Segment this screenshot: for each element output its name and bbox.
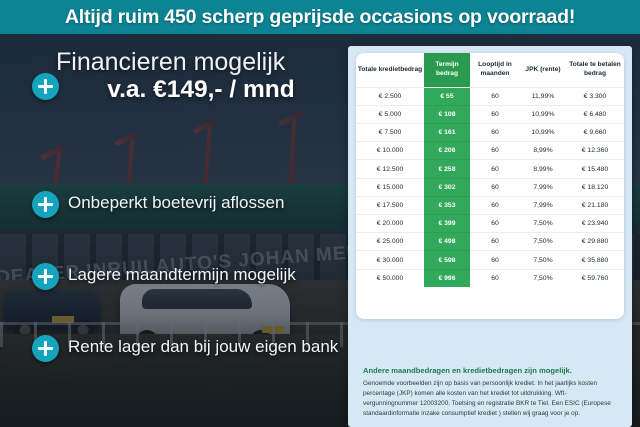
table-cell-r0-c0: € 2.500 — [356, 87, 424, 105]
table-cell-r2-c1: € 161 — [424, 124, 470, 142]
promo-banner-text: Altijd ruim 450 scherp geprijsde occasio… — [65, 6, 575, 29]
left-content: Financieren mogelijk v.a. €149,- / mnd O… — [0, 34, 348, 427]
table-cell-r6-c2: 60 — [470, 196, 520, 214]
table-cell-r2-c4: € 9.660 — [566, 124, 624, 142]
table-cell-r5-c0: € 15.000 — [356, 178, 424, 196]
plus-icon — [32, 191, 59, 218]
table-cell-r4-c0: € 12.500 — [356, 160, 424, 178]
plus-icon — [32, 73, 59, 100]
column-header-termijn-bedrag: Termijn bedrag — [424, 53, 470, 87]
table-cell-r8-c3: 7,50% — [520, 233, 566, 251]
table-cell-r7-c2: 60 — [470, 215, 520, 233]
column-header-totale-te-betalen: Totale te betalen bedrag — [566, 53, 624, 87]
table-cell-r9-c2: 60 — [470, 251, 520, 269]
table-row: € 30.000€ 598607,50%€ 35.880 — [356, 251, 624, 269]
table-cell-r8-c2: 60 — [470, 233, 520, 251]
financing-table-body: € 2.500€ 556011,99%€ 3.300€ 5.000€ 10860… — [356, 87, 624, 287]
table-cell-r3-c0: € 10.000 — [356, 142, 424, 160]
table-cell-r10-c1: € 996 — [424, 269, 470, 287]
table-cell-r10-c4: € 59.760 — [566, 269, 624, 287]
table-cell-r3-c1: € 206 — [424, 142, 470, 160]
table-cell-r9-c4: € 35.880 — [566, 251, 624, 269]
table-cell-r3-c3: 8,99% — [520, 142, 566, 160]
table-cell-r0-c1: € 55 — [424, 87, 470, 105]
table-cell-r5-c3: 7,99% — [520, 178, 566, 196]
table-cell-r3-c4: € 12.360 — [566, 142, 624, 160]
table-row: € 17.500€ 353607,99%€ 21.180 — [356, 196, 624, 214]
table-row: € 15.000€ 302607,99%€ 18.120 — [356, 178, 624, 196]
column-header-totale-kredietbedrag: Totale kredietbedrag — [356, 53, 424, 87]
column-header-jkp: JPK (rente) — [520, 53, 566, 87]
table-cell-r1-c4: € 6.480 — [566, 105, 624, 123]
bullet-item-1-label: Lagere maandtermijn mogelijk — [68, 265, 296, 285]
table-cell-r0-c4: € 3.300 — [566, 87, 624, 105]
plus-icon — [32, 335, 59, 362]
table-cell-r4-c1: € 258 — [424, 160, 470, 178]
table-cell-r2-c2: 60 — [470, 124, 520, 142]
table-row: € 50.000€ 996607,50%€ 59.760 — [356, 269, 624, 287]
table-cell-r1-c2: 60 — [470, 105, 520, 123]
table-cell-r4-c4: € 15.480 — [566, 160, 624, 178]
table-row: € 25.000€ 498607,50%€ 29.880 — [356, 233, 624, 251]
table-cell-r0-c2: 60 — [470, 87, 520, 105]
note-title: Andere maandbedragen en kredietbedragen … — [363, 366, 621, 376]
bullet-item-2-label: Rente lager dan bij jouw eigen bank — [68, 337, 338, 357]
table-cell-r10-c0: € 50.000 — [356, 269, 424, 287]
table-row: € 5.000€ 1086010,99%€ 6.480 — [356, 105, 624, 123]
table-cell-r4-c3: 8,99% — [520, 160, 566, 178]
table-row: € 20.000€ 399607,50%€ 23.940 — [356, 215, 624, 233]
table-cell-r2-c3: 10,99% — [520, 124, 566, 142]
table-cell-r0-c3: 11,99% — [520, 87, 566, 105]
financing-table-wrapper: Totale kredietbedrag Termijn bedrag Loop… — [356, 53, 624, 319]
table-cell-r1-c0: € 5.000 — [356, 105, 424, 123]
table-header-row: Totale kredietbedrag Termijn bedrag Loop… — [356, 53, 624, 87]
headline-line-1: Financieren mogelijk — [56, 48, 285, 76]
table-row: € 12.500€ 258608,99%€ 15.480 — [356, 160, 624, 178]
table-cell-r6-c4: € 21.180 — [566, 196, 624, 214]
table-cell-r10-c2: 60 — [470, 269, 520, 287]
table-cell-r9-c0: € 30.000 — [356, 251, 424, 269]
table-cell-r1-c1: € 108 — [424, 105, 470, 123]
table-cell-r6-c1: € 353 — [424, 196, 470, 214]
top-promo-banner: Altijd ruim 450 scherp geprijsde occasio… — [0, 0, 640, 34]
table-row: € 10.000€ 206608,99%€ 12.360 — [356, 142, 624, 160]
table-cell-r2-c0: € 7.500 — [356, 124, 424, 142]
table-cell-r7-c1: € 399 — [424, 215, 470, 233]
table-cell-r3-c2: 60 — [470, 142, 520, 160]
table-cell-r7-c4: € 23.940 — [566, 215, 624, 233]
table-cell-r9-c3: 7,50% — [520, 251, 566, 269]
plus-icon — [32, 263, 59, 290]
table-cell-r8-c1: € 498 — [424, 233, 470, 251]
table-row: € 7.500€ 1616010,99%€ 9.660 — [356, 124, 624, 142]
note-body: Genoemde voorbeelden zijn op basis van p… — [363, 379, 619, 419]
table-cell-r7-c0: € 20.000 — [356, 215, 424, 233]
table-row: € 2.500€ 556011,99%€ 3.300 — [356, 87, 624, 105]
table-cell-r6-c3: 7,99% — [520, 196, 566, 214]
page-title: Financieren mogelijk v.a. €149,- / mnd — [56, 48, 346, 103]
headline-line-2: v.a. €149,- / mnd — [56, 76, 346, 103]
financing-table: Totale kredietbedrag Termijn bedrag Loop… — [356, 53, 624, 287]
table-cell-r5-c4: € 18.120 — [566, 178, 624, 196]
table-cell-r1-c3: 10,99% — [520, 105, 566, 123]
bullet-item-0-label: Onbeperkt boetevrij aflossen — [68, 193, 284, 213]
column-header-looptijd: Looptijd in maanden — [470, 53, 520, 87]
financing-card: Totale kredietbedrag Termijn bedrag Loop… — [348, 46, 632, 427]
table-cell-r5-c2: 60 — [470, 178, 520, 196]
table-cell-r8-c4: € 29.880 — [566, 233, 624, 251]
table-cell-r6-c0: € 17.500 — [356, 196, 424, 214]
table-cell-r10-c3: 7,50% — [520, 269, 566, 287]
table-cell-r5-c1: € 302 — [424, 178, 470, 196]
table-cell-r4-c2: 60 — [470, 160, 520, 178]
table-cell-r7-c3: 7,50% — [520, 215, 566, 233]
table-cell-r8-c0: € 25.000 — [356, 233, 424, 251]
table-cell-r9-c1: € 598 — [424, 251, 470, 269]
hero-stage: DEALER INRUILAUTO'S JOHAN MEURE ALTIJD 4… — [0, 34, 640, 427]
